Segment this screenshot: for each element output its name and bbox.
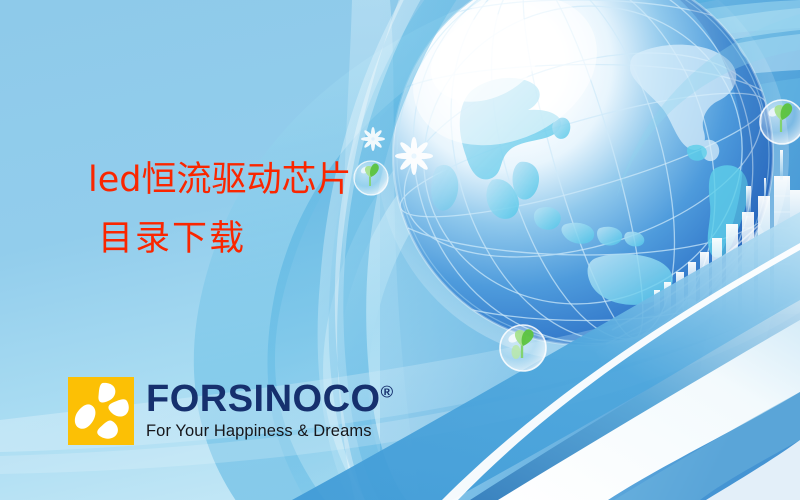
logo-wordmark-text: FORSINOCO	[146, 378, 381, 420]
daisy-flower-small	[361, 127, 385, 151]
bubble-sprout-small	[354, 161, 388, 195]
headline-line-1: led恒流驱动芯片	[88, 163, 351, 198]
daisy-flower-large	[395, 137, 433, 175]
pinwheel-petals-mark	[68, 377, 134, 445]
logo-text-block: FORSINOCO® For Your Happiness & Dreams	[146, 377, 393, 440]
logo-tagline: For Your Happiness & Dreams	[146, 423, 393, 440]
promotional-banner: led恒流驱动芯片 目录下载 FORSINOCO®	[0, 0, 800, 500]
bubble-sprout-center	[500, 325, 546, 371]
headline-text: led恒流驱动芯片 目录下载	[88, 163, 351, 257]
bubble-sprout-right	[760, 100, 800, 144]
registered-trademark-symbol: ®	[381, 382, 394, 401]
headline-line-2: 目录下载	[98, 222, 351, 257]
logo-wordmark: FORSINOCO®	[146, 380, 393, 418]
company-logo: FORSINOCO® For Your Happiness & Dreams	[68, 377, 393, 445]
